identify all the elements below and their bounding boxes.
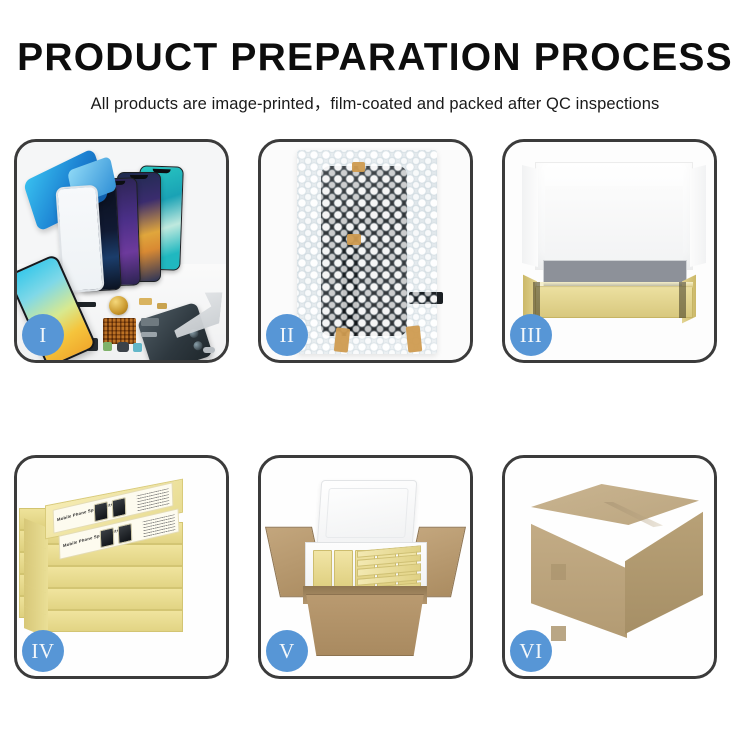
step-numeral-6: VI — [519, 641, 542, 662]
label-product-thumbnail — [112, 497, 127, 518]
spare-part — [203, 347, 215, 353]
inner-box-cavity — [545, 186, 683, 266]
box-tab — [679, 282, 686, 318]
label-product-thumbnail — [118, 523, 133, 544]
foam-box-lid — [317, 480, 418, 546]
box-front-face — [535, 286, 693, 318]
process-step-panel-2[interactable]: II — [258, 139, 473, 363]
page-title: PRODUCT PREPARATION PROCESS — [0, 38, 750, 79]
process-step-panel-6[interactable]: VI — [502, 455, 717, 679]
tape-strip — [352, 162, 365, 172]
step-numeral-4: IV — [31, 641, 54, 662]
spare-part — [103, 342, 112, 351]
step-badge-2: II — [266, 314, 308, 356]
circuit-grid-part — [103, 318, 136, 344]
carton-left-face — [531, 514, 627, 638]
carton-tape-mark — [551, 626, 566, 641]
step-badge-3: III — [510, 314, 552, 356]
tape-strip — [347, 234, 361, 245]
box-tab — [533, 282, 540, 318]
speaker-coil-part — [109, 296, 128, 315]
step-badge-6: VI — [510, 630, 552, 672]
step-numeral-5: V — [279, 641, 295, 662]
camera-lens-icon — [192, 340, 203, 351]
carton-tape-mark — [551, 564, 566, 580]
label-product-thumbnail — [94, 501, 109, 522]
process-step-panel-1[interactable]: I — [14, 139, 229, 363]
box-rim — [535, 282, 693, 288]
spare-part — [141, 332, 157, 337]
step-badge-1: I — [22, 314, 64, 356]
process-step-panel-5[interactable]: V — [258, 455, 473, 679]
page-subtitle: All products are image-printed，film-coat… — [0, 90, 750, 114]
label-product-thumbnail — [100, 527, 115, 548]
spare-part — [141, 318, 159, 326]
retail-box — [45, 588, 183, 610]
product-preparation-infographic: PRODUCT PREPARATION PROCESS All products… — [0, 0, 750, 750]
spare-part — [117, 342, 129, 352]
process-step-panel-4[interactable]: Mobile Phone Spare Parts Mobile Phone Sp… — [14, 455, 229, 679]
spare-part — [139, 298, 152, 305]
header: PRODUCT PREPARATION PROCESS All products… — [0, 0, 750, 114]
carton-right-face — [625, 504, 703, 634]
carton-front-face — [301, 594, 429, 656]
step-numeral-3: III — [520, 325, 542, 346]
step-badge-5: V — [266, 630, 308, 672]
step-badge-4: IV — [22, 630, 64, 672]
spare-part — [133, 343, 142, 352]
step-numeral-1: I — [39, 325, 47, 346]
spare-part — [157, 303, 167, 309]
retail-box — [45, 610, 183, 632]
tape-strip — [334, 327, 350, 352]
bubble-wrap-bag — [297, 150, 437, 354]
retail-box — [45, 566, 183, 588]
tape-strip — [406, 325, 423, 352]
step-numeral-2: II — [280, 325, 295, 346]
bubble-texture — [297, 150, 437, 354]
process-step-panel-3[interactable]: III — [502, 139, 717, 363]
process-step-grid: I II — [14, 139, 736, 699]
